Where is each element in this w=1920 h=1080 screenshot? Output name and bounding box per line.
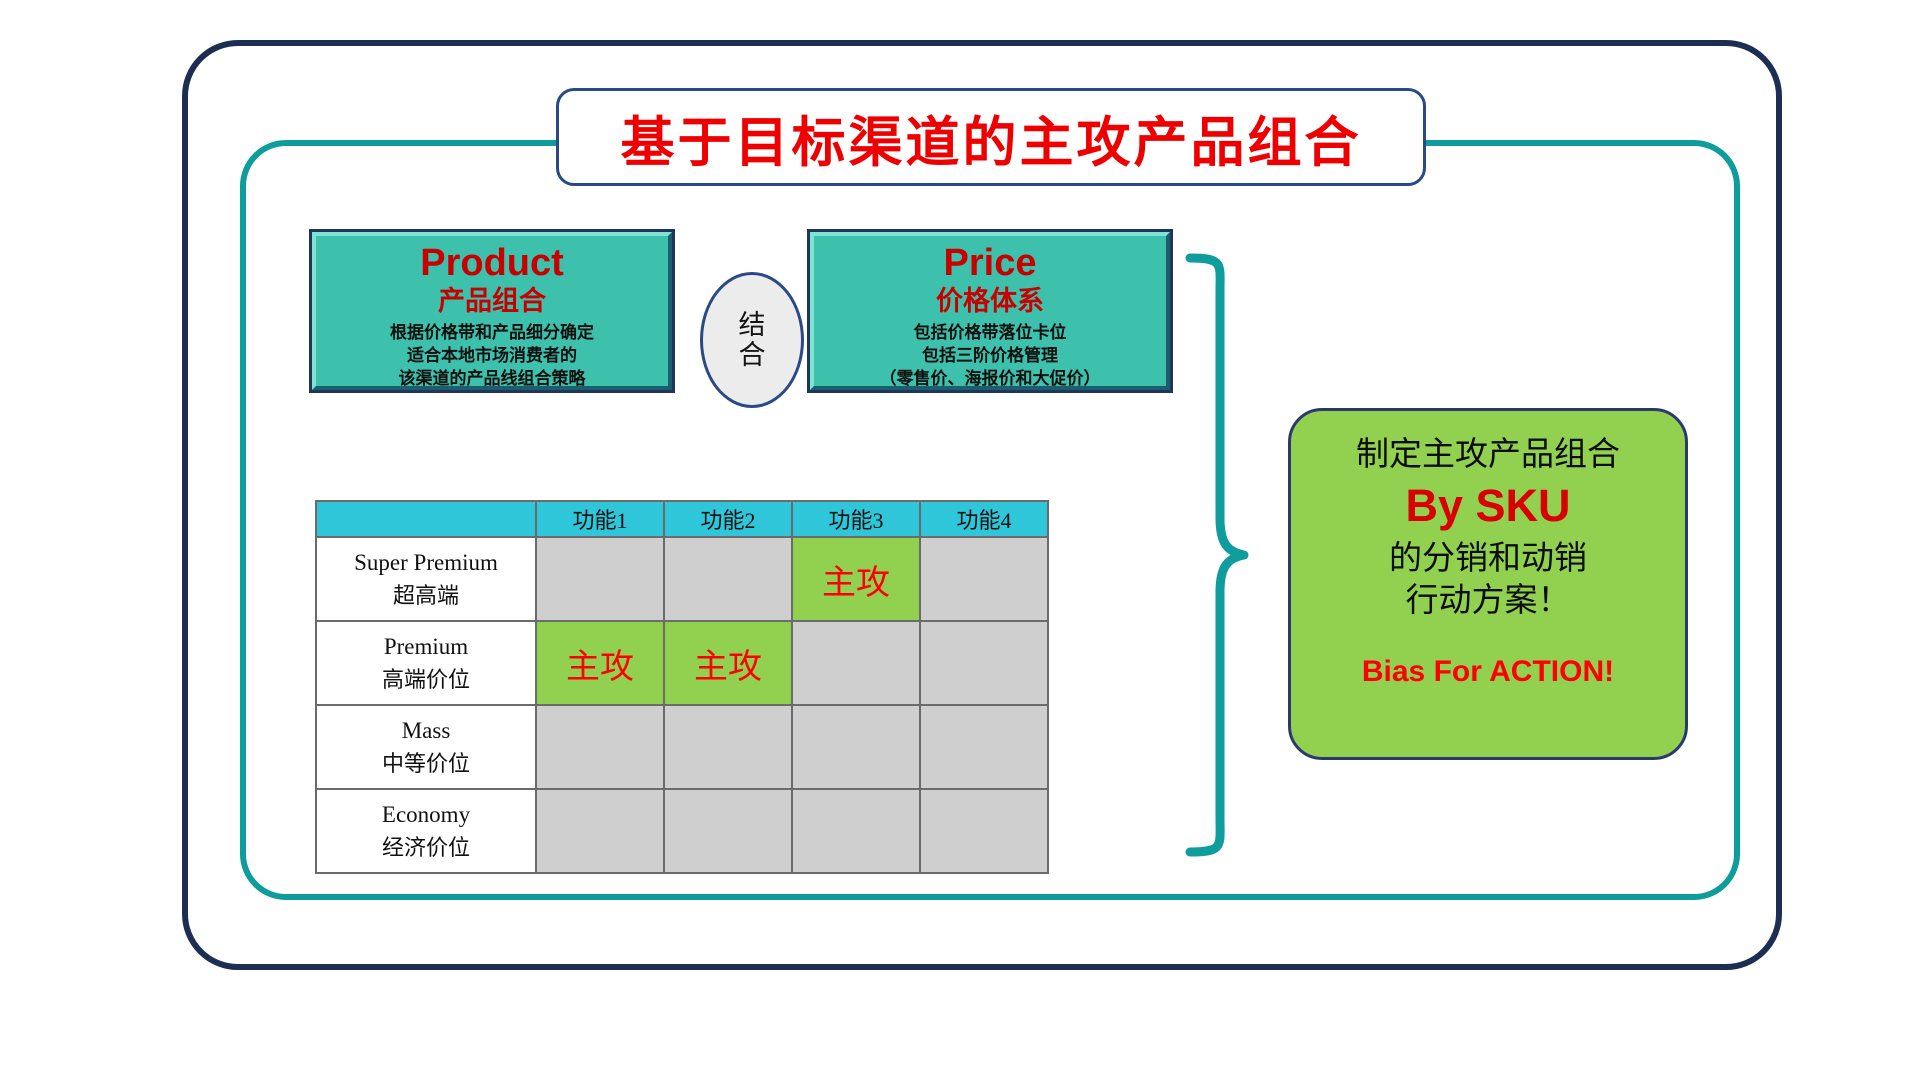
matrix-row-label: Super Premium超高端 (316, 537, 536, 621)
matrix-cell[interactable] (664, 537, 792, 621)
matrix-cell[interactable] (920, 621, 1048, 705)
action-callout-box: 制定主攻产品组合 By SKU 的分销和动销 行动方案！ Bias For AC… (1288, 408, 1688, 760)
price-box: Price 价格体系 包括价格带落位卡位 包括三阶价格管理 （零售价、海报价和大… (810, 232, 1170, 390)
price-desc-line-2: 包括三阶价格管理 (880, 345, 1101, 368)
matrix-row: Super Premium超高端主攻 (316, 537, 1048, 621)
matrix-cell[interactable] (536, 537, 664, 621)
matrix-row-label: Economy经济价位 (316, 789, 536, 873)
matrix-row-label-en: Premium (384, 634, 468, 659)
matrix-row-label-en: Economy (382, 802, 470, 827)
matrix-row-label-cn: 中等价位 (323, 748, 529, 780)
connector-char-2: 合 (739, 340, 766, 370)
price-desc-line-1: 包括价格带落位卡位 (880, 322, 1101, 345)
product-box: Product 产品组合 根据价格带和产品细分确定 适合本地市场消费者的 该渠道… (312, 232, 672, 390)
price-box-en-title: Price (944, 244, 1037, 284)
product-box-cn-title: 产品组合 (438, 286, 546, 317)
matrix-header-row: 功能1 功能2 功能3 功能4 (316, 501, 1048, 537)
matrix-col-header-1: 功能1 (536, 501, 664, 537)
matrix-col-header-4: 功能4 (920, 501, 1048, 537)
matrix-cell[interactable] (792, 705, 920, 789)
product-desc-line-1: 根据价格带和产品细分确定 (390, 322, 594, 345)
product-box-en-title: Product (420, 244, 564, 284)
matrix-cell[interactable] (920, 537, 1048, 621)
callout-line-2: By SKU (1405, 477, 1570, 535)
product-desc-line-2: 适合本地市场消费者的 (390, 345, 594, 368)
matrix-cell[interactable] (664, 789, 792, 873)
matrix-corner-cell (316, 501, 536, 537)
matrix-col-header-2: 功能2 (664, 501, 792, 537)
matrix-row: Premium高端价位主攻主攻 (316, 621, 1048, 705)
matrix-cell[interactable] (536, 789, 664, 873)
matrix-cell[interactable] (792, 789, 920, 873)
matrix-cell[interactable] (664, 705, 792, 789)
price-desc-line-3: （零售价、海报价和大促价） (880, 368, 1101, 391)
matrix-cell-highlighted[interactable]: 主攻 (664, 621, 792, 705)
matrix-row-label: Mass中等价位 (316, 705, 536, 789)
price-box-cn-title: 价格体系 (936, 286, 1044, 317)
connector-ellipse: 结 合 (700, 272, 804, 408)
matrix-col-header-3: 功能3 (792, 501, 920, 537)
matrix-cell[interactable] (792, 621, 920, 705)
matrix-row-label-en: Mass (402, 718, 451, 743)
product-price-matrix: 功能1 功能2 功能3 功能4 Super Premium超高端主攻Premiu… (315, 500, 1049, 874)
slide-title-banner: 基于目标渠道的主攻产品组合 (556, 88, 1426, 186)
matrix-cell[interactable] (920, 705, 1048, 789)
matrix-cell-highlighted[interactable]: 主攻 (536, 621, 664, 705)
matrix-row: Economy经济价位 (316, 789, 1048, 873)
matrix-cell[interactable] (536, 705, 664, 789)
callout-line-3: 的分销和动销 (1389, 537, 1587, 579)
product-box-desc: 根据价格带和产品细分确定 适合本地市场消费者的 该渠道的产品线组合策略 (390, 322, 594, 391)
matrix-cell[interactable] (920, 789, 1048, 873)
matrix-cell-highlighted[interactable]: 主攻 (792, 537, 920, 621)
slide-canvas: 基于目标渠道的主攻产品组合 Product 产品组合 根据价格带和产品细分确定 … (0, 0, 1920, 1080)
matrix-row-label: Premium高端价位 (316, 621, 536, 705)
product-desc-line-3: 该渠道的产品线组合策略 (390, 368, 594, 391)
callout-line-4: 行动方案！ (1406, 579, 1571, 621)
matrix-row-label-cn: 经济价位 (323, 832, 529, 864)
price-box-desc: 包括价格带落位卡位 包括三阶价格管理 （零售价、海报价和大促价） (880, 322, 1101, 391)
grouping-brace (1180, 250, 1252, 860)
matrix-row-label-cn: 超高端 (323, 580, 529, 612)
matrix-body: Super Premium超高端主攻Premium高端价位主攻主攻Mass中等价… (316, 537, 1048, 873)
brace-icon (1180, 250, 1252, 860)
callout-line-1: 制定主攻产品组合 (1356, 433, 1620, 475)
connector-char-1: 结 (739, 310, 766, 340)
matrix-row-label-cn: 高端价位 (323, 664, 529, 696)
callout-line-5: Bias For ACTION! (1362, 655, 1614, 689)
matrix-row: Mass中等价位 (316, 705, 1048, 789)
page-title: 基于目标渠道的主攻产品组合 (621, 98, 1362, 177)
matrix-row-label-en: Super Premium (354, 550, 498, 575)
